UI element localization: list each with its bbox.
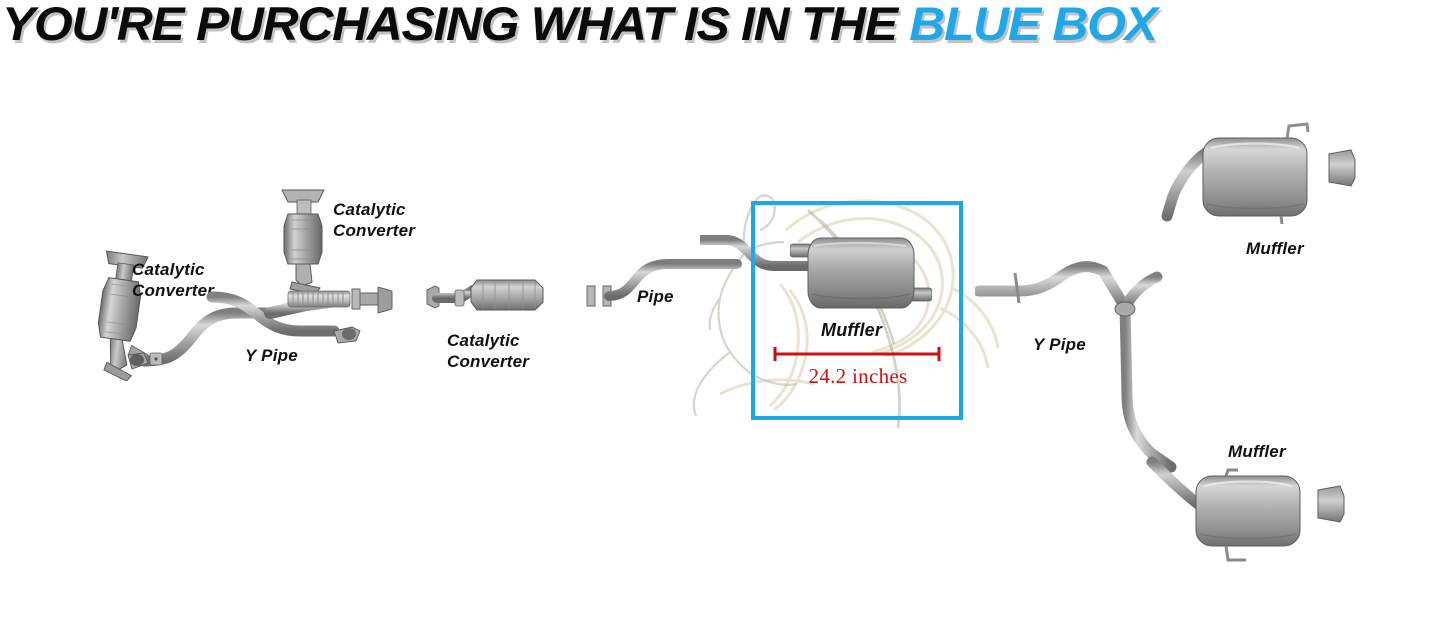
dimension-label: 24.2 inches: [772, 364, 944, 389]
label-catalytic-converter-upper: Catalytic Converter: [333, 199, 415, 242]
label-muffler-upper-right: Muffler: [1246, 238, 1304, 259]
label-muffler-lower-right: Muffler: [1228, 441, 1286, 462]
catalytic-converter-mid: [425, 258, 745, 338]
label-pipe: Pipe: [637, 286, 674, 307]
label-y-pipe-right: Y Pipe: [1033, 334, 1086, 355]
header-banner: YOU'RE PURCHASING WHAT IS IN THE BLUE BO…: [0, 0, 1445, 56]
label-catalytic-converter-mid: Catalytic Converter: [447, 330, 529, 373]
exhaust-system-diagram: YOU'RE PURCHASING WHAT IS IN THE BLUE BO…: [0, 0, 1445, 619]
header-title-accent: BLUE BOX: [909, 0, 1156, 50]
y-pipe-left: [120, 275, 410, 385]
dimension-line: [772, 345, 942, 363]
page-title: YOU'RE PURCHASING WHAT IS IN THE BLUE BO…: [2, 0, 1157, 52]
header-title-plain: YOU'RE PURCHASING WHAT IS IN THE: [2, 0, 909, 50]
label-y-pipe-left: Y Pipe: [245, 345, 298, 366]
